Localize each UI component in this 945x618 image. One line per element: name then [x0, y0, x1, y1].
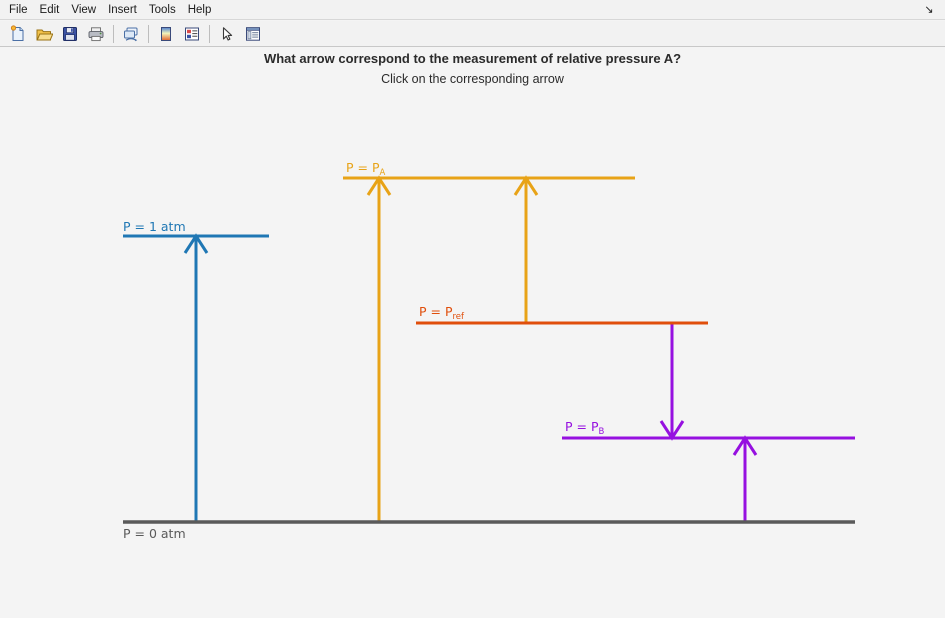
level-p-zero: P = 0 atm: [123, 522, 855, 541]
level-label-p-zero: P = 0 atm: [123, 526, 186, 541]
menu-tools[interactable]: Tools: [143, 1, 182, 19]
level-p-ref: P = Pref: [416, 304, 708, 323]
pressure-diagram: P = 1 atmP = PAP = PrefP = PBP = 0 atm: [0, 96, 945, 618]
new-document-icon[interactable]: [6, 23, 30, 45]
menu-edit[interactable]: Edit: [34, 1, 66, 19]
open-folder-icon[interactable]: [32, 23, 56, 45]
page-title: What arrow correspond to the measurement…: [0, 50, 945, 68]
menu-bar: File Edit View Insert Tools Help ↘: [0, 0, 945, 20]
level-p-b: P = PB: [562, 419, 855, 438]
arrow-absolute-atm[interactable]: [185, 236, 207, 522]
arrow-relative-b[interactable]: [661, 323, 683, 438]
print-icon[interactable]: [84, 23, 108, 45]
arrow-absolute-b[interactable]: [734, 438, 756, 522]
toolbar-separator: [148, 25, 149, 43]
menu-expander-icon[interactable]: ↘: [921, 3, 937, 17]
menu-help[interactable]: Help: [182, 1, 218, 19]
layout-grid-icon[interactable]: [180, 23, 204, 45]
toolbar-separator: [209, 25, 210, 43]
menu-file[interactable]: File: [3, 1, 34, 19]
level-label-p-a: P = PA: [346, 160, 386, 178]
print-preview-icon[interactable]: [119, 23, 143, 45]
properties-panel-icon[interactable]: [241, 23, 265, 45]
level-p-a: P = PA: [343, 160, 635, 178]
arrow-absolute-a[interactable]: [368, 178, 390, 522]
gradient-fill-icon[interactable]: [154, 23, 178, 45]
prompt-block: What arrow correspond to the measurement…: [0, 50, 945, 88]
prompt-instruction: Click on the corresponding arrow: [0, 70, 945, 88]
menu-insert[interactable]: Insert: [102, 1, 143, 19]
level-label-p-ref: P = Pref: [419, 304, 465, 322]
save-floppy-icon[interactable]: [58, 23, 82, 45]
arrow-relative-a[interactable]: [515, 178, 537, 323]
toolbar: [0, 21, 945, 47]
level-label-p-b: P = PB: [565, 419, 605, 437]
toolbar-separator: [113, 25, 114, 43]
level-label-p-atm: P = 1 atm: [123, 219, 186, 234]
menu-view[interactable]: View: [65, 1, 102, 19]
pressure-diagram-svg[interactable]: P = 1 atmP = PAP = PrefP = PBP = 0 atm: [0, 96, 945, 618]
pointer-cursor-icon[interactable]: [215, 23, 239, 45]
